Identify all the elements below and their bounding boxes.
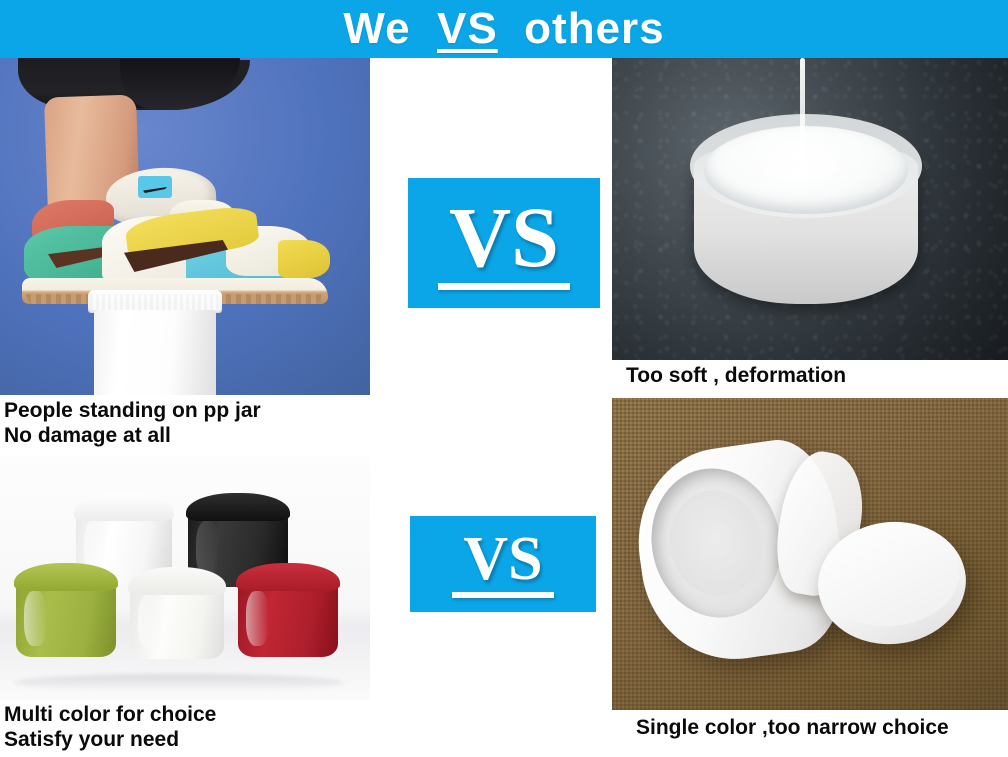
title-suffix: others xyxy=(498,4,665,53)
caption-top-left: People standing on pp jar No damage at a… xyxy=(0,397,370,455)
title-vs: VS xyxy=(437,4,498,53)
page-title: We VS others xyxy=(343,7,664,51)
jar-lid xyxy=(88,290,222,312)
jar-lid xyxy=(186,493,290,521)
cream-dish xyxy=(690,100,922,318)
vs-badge-bottom: VS xyxy=(410,516,596,612)
jar-red-front xyxy=(236,563,340,657)
caption-bottom-left: Multi color for choice Satisfy your need xyxy=(0,700,370,757)
sneaker-shape xyxy=(14,178,314,296)
title-prefix: We xyxy=(343,4,437,53)
jar-lid xyxy=(74,493,174,521)
white-pp-jar xyxy=(92,290,218,395)
photo-soft-deformed-cream xyxy=(612,58,1008,360)
vs-label: VS xyxy=(463,530,542,590)
jar-highlight xyxy=(24,591,47,646)
vs-underline-bar xyxy=(452,592,554,598)
comparison-infographic: We VS others People standing on p xyxy=(0,0,1008,757)
caption-top-right: Too soft , deformation xyxy=(612,362,1008,398)
floor-reflection xyxy=(14,674,344,692)
white-jar-on-side xyxy=(640,432,856,668)
photo-single-color-white-jar xyxy=(612,398,1008,710)
vs-badge-top: VS xyxy=(408,178,600,308)
photo-person-standing-on-pp-jar xyxy=(0,58,370,395)
vs-underline-bar xyxy=(438,283,570,290)
jar-green-front xyxy=(14,563,118,657)
jar-lid xyxy=(14,563,118,591)
vs-label: VS xyxy=(449,196,559,279)
jar-highlight xyxy=(138,595,160,648)
caption-bottom-right: Single color ,too narrow choice xyxy=(612,712,1008,757)
shoe-tip xyxy=(278,240,330,278)
cream-pour-stream xyxy=(800,58,805,166)
jar-frosted-front xyxy=(128,567,226,659)
jar-body xyxy=(94,310,216,395)
nike-logo-tag-icon xyxy=(138,176,172,198)
jar-highlight xyxy=(246,591,269,646)
header-banner: We VS others xyxy=(0,0,1008,58)
jar-lid xyxy=(128,567,226,595)
jar-lid xyxy=(236,563,340,591)
photo-multi-color-jars xyxy=(0,455,370,700)
